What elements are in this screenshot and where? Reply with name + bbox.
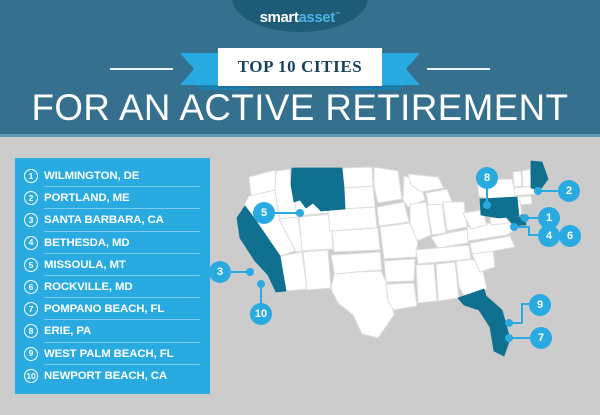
map-marker-5[interactable]: 5 [253,202,275,224]
map-marker-3[interactable]: 3 [209,261,231,283]
state-me-highlight [531,161,548,190]
list-item[interactable]: 6 ROCKVILLE, MD [15,276,210,298]
map-dot-4 [510,223,518,231]
state-co [299,214,333,251]
list-item[interactable]: 7 POMPANO BEACH, FL [15,298,210,320]
map-dot-3 [246,268,254,276]
map-marker-6[interactable]: 6 [559,225,581,247]
state-nm [303,250,331,290]
infographic-root: smartasset™ TOP 10 CITIES FOR AN ACTIVE … [0,0,600,415]
map-dot-10 [257,280,265,288]
city-label: NEWPORT BEACH, CA [44,370,167,382]
list-item[interactable]: 1 WILMINGTON, DE [15,165,210,187]
map-marker-9[interactable]: 9 [529,294,551,316]
ribbon-rule-right [427,68,490,70]
rank-badge: 8 [24,324,38,338]
logo-trademark-icon: ™ [335,12,341,18]
map-marker-7[interactable]: 7 [530,327,552,349]
city-label: MISSOULA, MT [44,259,126,271]
rank-badge: 1 [24,169,38,183]
logo-asset-text: asset [298,9,334,26]
list-item[interactable]: 10 NEWPORT BEACH, CA [15,365,210,387]
city-label: PORTLAND, ME [44,192,130,204]
map-marker-4[interactable]: 4 [538,225,560,247]
rank-badge: 9 [24,347,38,361]
state-ar [384,259,415,282]
list-item[interactable]: 4 BETHESDA, MD [15,232,210,254]
state-nd [342,167,373,188]
city-label: SANTA BARBARA, CA [44,214,164,226]
list-item[interactable]: 2 PORTLAND, ME [15,187,210,209]
list-item[interactable]: 3 SANTA BARBARA, CA [15,209,210,231]
rank-badge: 2 [24,191,38,205]
map-dot-8 [483,201,491,209]
map-dot-9 [505,319,513,327]
state-sd [344,186,375,209]
map-marker-8[interactable]: 8 [476,167,498,189]
state-ks [332,228,380,252]
ribbon-label: TOP 10 CITIES [238,57,363,77]
logo-wordmark: smartasset™ [260,10,341,25]
ribbon-center-plate: TOP 10 CITIES [218,48,382,86]
state-ne [328,207,377,231]
page-title: FOR AN ACTIVE RETIREMENT [3,88,597,128]
header-divider-rule [0,134,600,137]
rank-badge: 3 [24,213,38,227]
map-marker-10[interactable]: 10 [250,303,272,325]
list-item[interactable]: 9 WEST PALM BEACH, FL [15,343,210,365]
state-nh [522,169,532,187]
map-dot-2 [534,187,542,195]
state-vt [513,171,522,187]
city-label: WILMINGTON, DE [44,170,139,182]
city-label: WEST PALM BEACH, FL [44,348,174,360]
state-fl-highlight [458,289,510,356]
state-ms [416,264,437,303]
rank-badge: 4 [24,236,38,250]
city-list-panel: 1 WILMINGTON, DE 2 PORTLAND, ME 3 SANTA … [15,158,210,394]
map-dot-1 [521,214,529,222]
state-mn [374,167,402,203]
usa-map: 5 3 10 2 8 1 4 6 9 [218,155,590,400]
map-leader-9b [521,303,523,323]
rank-badge: 5 [24,258,38,272]
city-label: ERIE, PA [44,325,91,337]
city-label: ROCKVILLE, MD [44,281,133,293]
state-al [436,262,459,301]
rank-badge: 6 [24,280,38,294]
map-marker-2[interactable]: 2 [558,180,580,202]
city-label: BETHESDA, MD [44,237,130,249]
state-ia [377,202,409,226]
city-label: POMPANO BEACH, FL [44,303,164,315]
map-dot-7 [505,334,513,342]
map-dot-5 [296,209,304,217]
state-oh [443,202,467,231]
rank-badge: 10 [24,369,38,383]
state-tx [331,271,394,338]
list-item[interactable]: 5 MISSOULA, MT [15,254,210,276]
ribbon-rule-left [110,68,173,70]
logo-smart-text: smart [260,9,299,26]
rank-badge: 7 [24,302,38,316]
list-item[interactable]: 8 ERIE, PA [15,320,210,342]
ribbon-banner: TOP 10 CITIES [0,48,600,90]
